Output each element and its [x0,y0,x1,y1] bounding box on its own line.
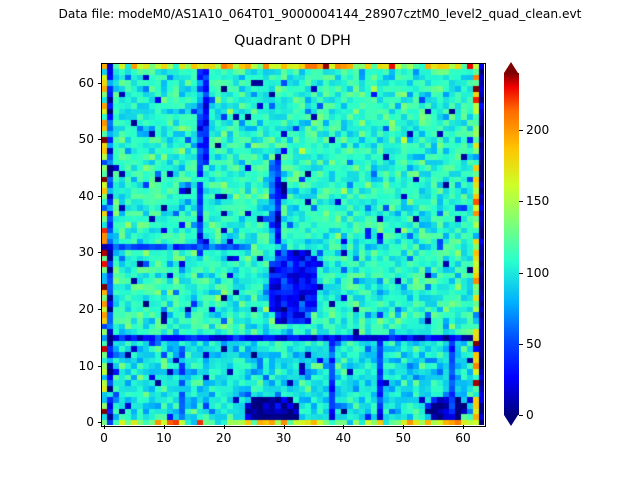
colorbar-gradient [504,73,519,415]
y-tick-mark [98,422,102,423]
colorbar-tick-label: 100 [526,266,549,280]
x-tick-mark [224,425,225,429]
colorbar-under-arrow-icon [504,415,518,426]
colorbar-tick-mark [519,130,523,131]
x-tick-mark [104,425,105,429]
x-tick-mark [343,425,344,429]
y-tick-mark [98,252,102,253]
x-tick-label: 0 [84,431,124,445]
x-tick-mark [403,425,404,429]
colorbar-tick-label: 200 [526,123,549,137]
y-tick-label: 40 [53,189,94,203]
figure-suptitle: Data file: modeM0/AS1A10_064T01_90000041… [0,7,640,21]
x-tick-label: 20 [204,431,244,445]
x-tick-label: 30 [264,431,304,445]
matplotlib-figure: Data file: modeM0/AS1A10_064T01_90000041… [0,0,640,480]
heatmap-axes[interactable] [101,63,484,425]
colorbar-tick-mark [519,415,523,416]
y-tick-mark [98,196,102,197]
y-tick-label: 10 [53,359,94,373]
y-tick-label: 0 [53,415,94,429]
colorbar-tick-mark [519,344,523,345]
x-tick-label: 10 [144,431,184,445]
x-tick-mark [463,425,464,429]
colorbar[interactable] [504,62,519,426]
x-tick-label: 50 [383,431,423,445]
y-tick-mark [98,309,102,310]
colorbar-tick-mark [519,273,523,274]
colorbar-over-arrow-icon [504,62,518,73]
colorbar-tick-mark [519,201,523,202]
y-tick-mark [98,83,102,84]
y-tick-mark [98,139,102,140]
x-tick-mark [284,425,285,429]
colorbar-tick-label: 0 [526,408,534,422]
y-tick-label: 30 [53,245,94,259]
y-tick-mark [98,366,102,367]
x-tick-label: 40 [323,431,363,445]
y-tick-label: 60 [53,76,94,90]
y-tick-label: 20 [53,302,94,316]
axes-title: Quadrant 0 DPH [101,32,484,50]
colorbar-tick-label: 50 [526,337,542,351]
y-tick-label: 50 [53,132,94,146]
heatmap-image [101,63,484,425]
x-tick-mark [164,425,165,429]
x-tick-label: 60 [443,431,483,445]
colorbar-tick-label: 150 [526,194,549,208]
